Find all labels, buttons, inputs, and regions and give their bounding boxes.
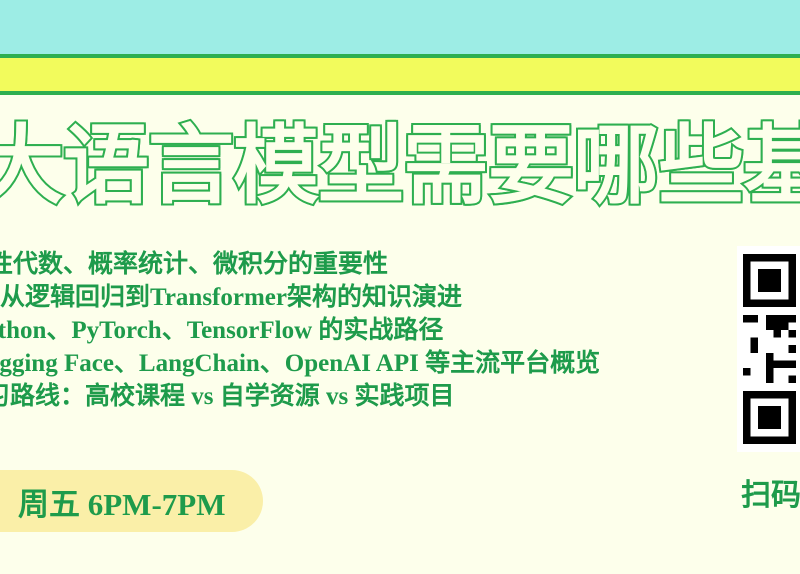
bullet-list: ：线性代数、概率统计、微积分的重要性 念：从逻辑回归到Transformer架构… (0, 248, 760, 418)
scan-caption: 扫码 (741, 478, 800, 514)
time-badge-label: 周五 6PM-7PM (18, 479, 225, 524)
qr-code-icon (743, 254, 800, 444)
poster-canvas: 大语言模型需要哪些基础 ：线性代数、概率统计、微积分的重要性 念：从逻辑回归到T… (0, 0, 800, 574)
list-item: 念：从逻辑回归到Transformer架构的知识演进 (0, 281, 760, 314)
headline-container: 大语言模型需要哪些基础 (0, 112, 800, 222)
time-badge: 周五 6PM-7PM (0, 470, 263, 532)
page-title: 大语言模型需要哪些基础 (0, 116, 800, 216)
qr-code-container[interactable] (737, 246, 800, 452)
list-item: Hugging Face、LangChain、OpenAI API 等主流平台概… (0, 347, 760, 380)
top-teal-band (0, 0, 800, 54)
list-item: 学习路线：高校课程 vs 自学资源 vs 实践项目 (0, 380, 760, 413)
top-green-divider-lower (0, 91, 800, 95)
qr-code-svg (743, 254, 800, 444)
top-yellow-band (0, 58, 800, 91)
list-item: Python、PyTorch、TensorFlow 的实战路径 (0, 314, 760, 347)
list-item: ：线性代数、概率统计、微积分的重要性 (0, 248, 760, 281)
